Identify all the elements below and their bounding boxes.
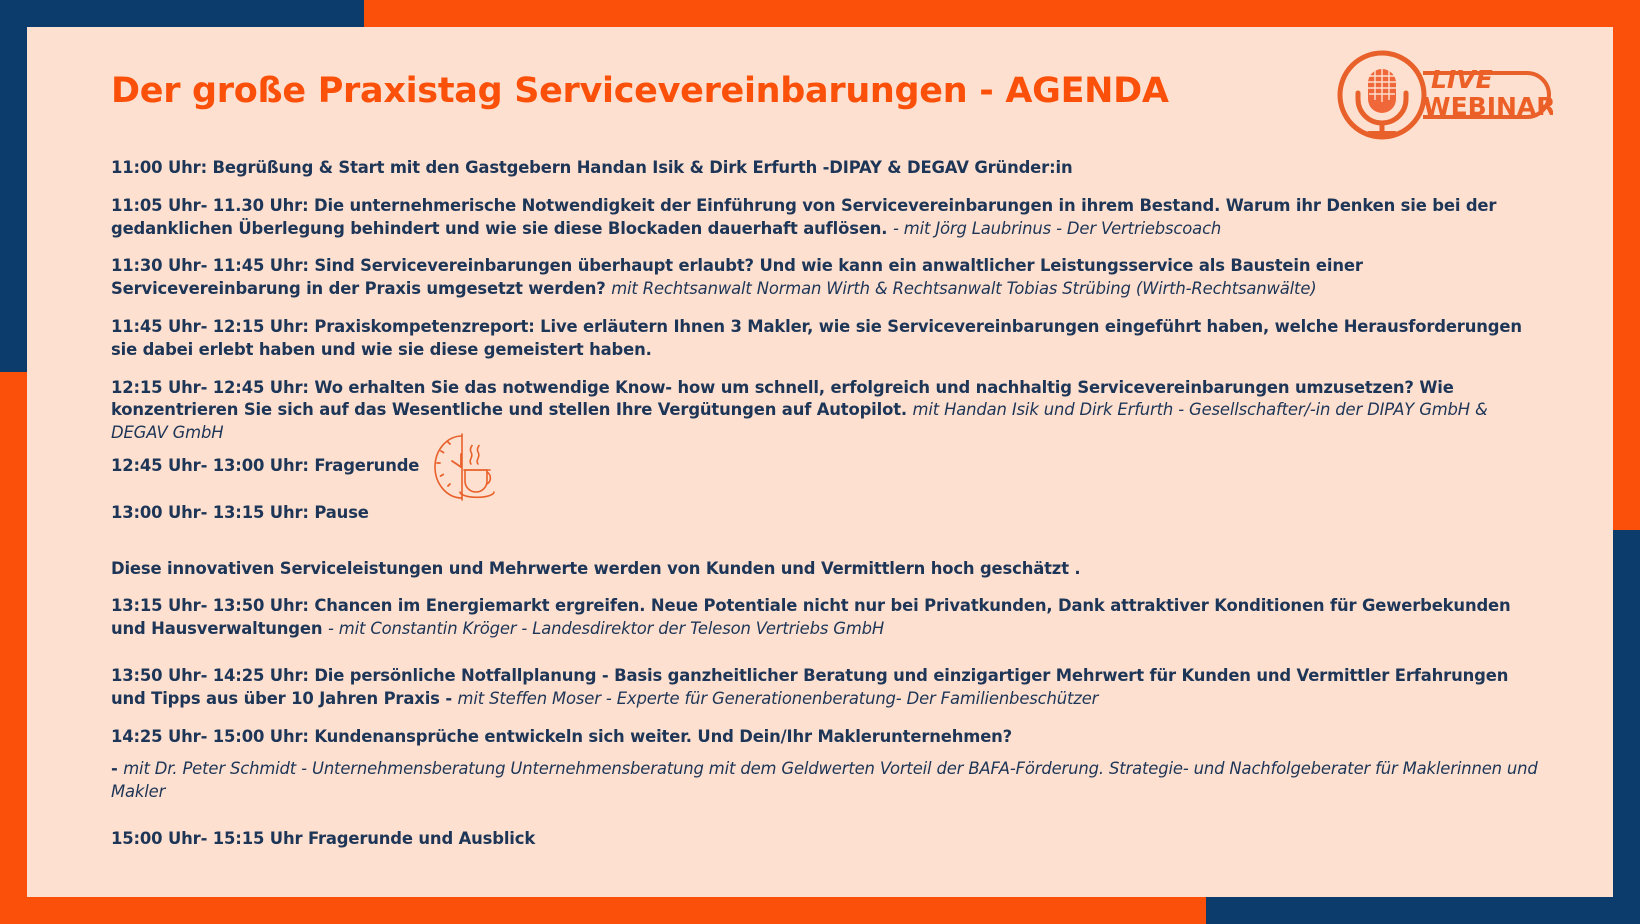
frame-band-right-navy	[1613, 530, 1640, 924]
agenda-entry: - mit Dr. Peter Schmidt - Unternehmensbe…	[111, 758, 1543, 804]
agenda-entry-bold: Diese innovativen Serviceleistungen und …	[111, 559, 1081, 578]
agenda-entry-bold: 12:45 Uhr- 13:00 Uhr: Fragerunde	[111, 456, 419, 475]
agenda-entry: 13:00 Uhr- 13:15 Uhr: Pause	[111, 502, 1543, 525]
frame-band-left-orange	[0, 372, 27, 924]
frame-band-right-orange	[1613, 0, 1640, 530]
content-card: Der große Praxistag Servicevereinbarunge…	[27, 27, 1613, 897]
agenda-entry: 13:15 Uhr- 13:50 Uhr: Chancen im Energie…	[111, 595, 1543, 641]
agenda-poster: Der große Praxistag Servicevereinbarunge…	[0, 0, 1640, 924]
microphone-icon	[1340, 53, 1424, 137]
badge-webinar-text: WEBINAR	[1423, 92, 1553, 121]
live-webinar-badge: LIVE WEBINAR	[1335, 49, 1553, 141]
page-title: Der große Praxistag Servicevereinbarunge…	[111, 71, 1169, 111]
frame-band-top-orange	[364, 0, 1640, 27]
agenda-entry-italic: - mit Constantin Kröger - Landesdirektor…	[328, 619, 884, 638]
agenda-entry: 11:45 Uhr- 12:15 Uhr: Praxiskompetenzrep…	[111, 316, 1543, 362]
agenda-entry-italic: mit Steffen Moser - Experte für Generati…	[458, 689, 1099, 708]
badge-live-text: LIVE	[1431, 65, 1493, 94]
agenda-entry: 12:45 Uhr- 13:00 Uhr: Fragerunde	[111, 455, 1543, 478]
agenda-entry-bold: 11:45 Uhr- 12:15 Uhr: Praxiskompetenzrep…	[111, 317, 1522, 359]
agenda-entry-italic: mit Dr. Peter Schmidt - Unternehmensbera…	[111, 759, 1538, 801]
agenda-entry: 14:25 Uhr- 15:00 Uhr: Kundenansprüche en…	[111, 726, 1543, 749]
agenda-entry-bold: 11:00 Uhr: Begrüßung & Start mit den Gas…	[111, 158, 1072, 177]
frame-band-left-navy	[0, 0, 27, 372]
agenda-entry-italic: - mit Jörg Laubrinus - Der Vertriebscoac…	[893, 219, 1221, 238]
frame-band-top-navy	[0, 0, 364, 27]
agenda-entry-italic: mit Rechtsanwalt Norman Wirth & Rechtsan…	[611, 279, 1316, 298]
agenda-entry: 15:00 Uhr- 15:15 Uhr Fragerunde und Ausb…	[111, 828, 1543, 851]
agenda-entry-bold: 14:25 Uhr- 15:00 Uhr: Kundenansprüche en…	[111, 727, 1012, 746]
agenda-entry: 13:50 Uhr- 14:25 Uhr: Die persönliche No…	[111, 665, 1543, 711]
agenda-list: 11:00 Uhr: Begrüßung & Start mit den Gas…	[111, 157, 1543, 851]
agenda-entry: 11:05 Uhr- 11.30 Uhr: Die unternehmerisc…	[111, 195, 1543, 241]
agenda-entry-bold: 11:05 Uhr- 11.30 Uhr: Die unternehmerisc…	[111, 196, 1496, 238]
agenda-entry: 11:00 Uhr: Begrüßung & Start mit den Gas…	[111, 157, 1543, 180]
agenda-entry: 12:15 Uhr- 12:45 Uhr: Wo erhalten Sie da…	[111, 377, 1543, 445]
header-row: Der große Praxistag Servicevereinbarunge…	[83, 49, 1557, 141]
agenda-entry: Diese innovativen Serviceleistungen und …	[111, 558, 1543, 581]
agenda-entry: 11:30 Uhr- 11:45 Uhr: Sind Serviceverein…	[111, 255, 1543, 301]
frame-band-bottom-navy	[1206, 897, 1640, 924]
clock-coffee-cup-icon	[432, 432, 512, 502]
agenda-entry-bold: -	[111, 759, 123, 778]
agenda-entry-bold: 13:00 Uhr- 13:15 Uhr: Pause	[111, 503, 369, 522]
frame-band-bottom-orange	[0, 897, 1206, 924]
agenda-entry-bold: 15:00 Uhr- 15:15 Uhr Fragerunde und Ausb…	[111, 829, 535, 848]
